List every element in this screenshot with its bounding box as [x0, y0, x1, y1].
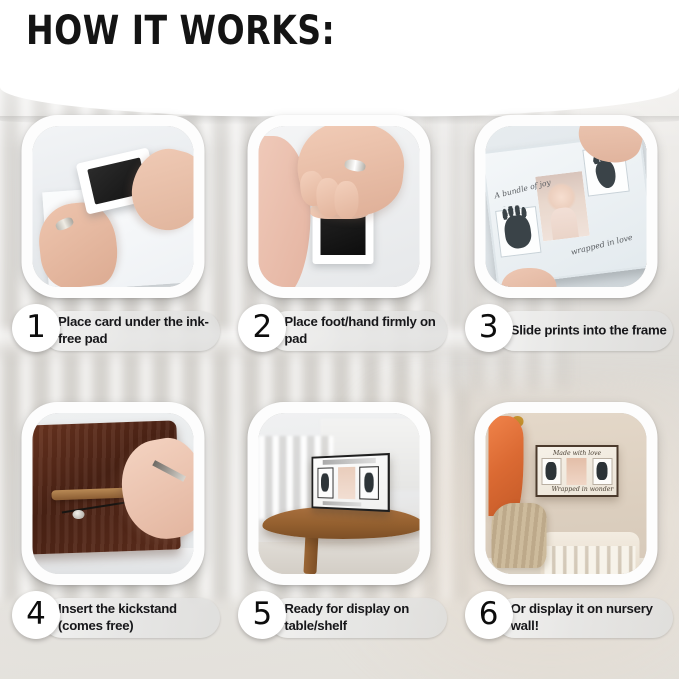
step-2-image-tile: [248, 115, 431, 298]
step-6-label: Or display it on nursery wall!: [511, 601, 669, 635]
step-3-number-badge: 3: [465, 304, 513, 352]
step-5-label: Ready for display on table/shelf: [284, 601, 442, 635]
photo-sliding-prints-into-frame: A bundle of joy wrapped in love: [485, 126, 646, 287]
handprint: [321, 474, 329, 492]
frame-script-bottom: [322, 501, 361, 507]
step-1-number: 1: [26, 312, 46, 343]
step-3-number: 3: [479, 312, 499, 343]
footprint: [364, 473, 373, 493]
screw-icon: [73, 510, 84, 520]
step-4-label: Insert the kickstand (comes free): [58, 601, 216, 635]
footprint: [593, 158, 618, 190]
footprint-slot: [360, 466, 379, 499]
step-5-image-inner: [259, 413, 420, 574]
step-3-caption: 3 Slide prints into the frame: [465, 308, 673, 354]
step-6-number: 6: [479, 599, 499, 630]
step-5: 5 Ready for display on table/shelf: [226, 390, 452, 673]
step-1-caption: 1 Place card under the ink-free pad: [12, 308, 220, 354]
keepsake-frame: [311, 453, 389, 512]
photo-inserting-kickstand-into-frame-back: [33, 413, 194, 574]
baby-photo-slot: [337, 467, 355, 499]
frame-script-bottom: Wrapped in wonder: [552, 486, 603, 493]
steps-grid: 1 Place card under the ink-free pad: [0, 103, 679, 673]
handprint-slot: [495, 206, 541, 258]
photo-hand-pressing-baby-foot-on-pad: [259, 126, 420, 287]
step-2-label: Place foot/hand firmly on pad: [284, 314, 442, 348]
handprint-slot: [317, 467, 333, 498]
step-2: 2 Place foot/hand firmly on pad: [226, 103, 452, 386]
step-6-image-inner: Made with love Wrapped in wonder: [485, 413, 646, 574]
floor: [259, 542, 420, 574]
frame-script-top: Made with love: [552, 450, 603, 457]
step-2-number: 2: [252, 312, 272, 343]
step-2-number-badge: 2: [238, 304, 286, 352]
wooden-table: [262, 506, 420, 538]
step-5-number: 5: [252, 599, 272, 630]
step-5-image-tile: [248, 402, 431, 585]
photo-finished-frame-on-wooden-table: [259, 413, 420, 574]
baby-photo-slot: [567, 458, 587, 486]
orange-curtain: [489, 416, 524, 516]
step-6-number-badge: 6: [465, 591, 513, 639]
knit-blanket: [492, 503, 547, 567]
page-title: HOW IT WORKS:: [26, 8, 335, 54]
step-1-number-badge: 1: [12, 304, 60, 352]
photo-finished-frame-on-nursery-wall: Made with love Wrapped in wonder: [485, 413, 646, 574]
step-2-image-inner: [259, 126, 420, 287]
step-4-number: 4: [26, 599, 46, 630]
step-5-caption: 5 Ready for display on table/shelf: [238, 595, 446, 641]
step-4-number-badge: 4: [12, 591, 60, 639]
step-1: 1 Place card under the ink-free pad: [0, 103, 226, 386]
step-4-image-tile: [22, 402, 205, 585]
footprint-slot: [592, 458, 612, 486]
handprint: [503, 214, 533, 250]
frame-script-top: [322, 458, 375, 465]
step-6-image-tile: Made with love Wrapped in wonder: [474, 402, 657, 585]
step-6: Made with love Wrapped in wonder 6 Or di…: [453, 390, 679, 673]
keepsake-frame: Made with love Wrapped in wonder: [535, 445, 619, 497]
how-it-works-infographic: HOW IT WORKS: 1: [0, 0, 679, 679]
step-3-image-inner: A bundle of joy wrapped in love: [485, 126, 646, 287]
step-4: 4 Insert the kickstand (comes free): [0, 390, 226, 673]
step-2-caption: 2 Place foot/hand firmly on pad: [238, 308, 446, 354]
step-5-number-badge: 5: [238, 591, 286, 639]
step-6-caption: 6 Or display it on nursery wall!: [465, 595, 673, 641]
step-1-image-inner: [33, 126, 194, 287]
handprint: [546, 462, 557, 480]
step-4-caption: 4 Insert the kickstand (comes free): [12, 595, 220, 641]
step-4-image-inner: [33, 413, 194, 574]
step-3-image-tile: A bundle of joy wrapped in love: [474, 115, 657, 298]
crib: [540, 532, 640, 574]
handprint-slot: [541, 458, 561, 486]
step-1-label: Place card under the ink-free pad: [58, 314, 216, 348]
step-3: A bundle of joy wrapped in love 3 Slide …: [453, 103, 679, 386]
step-1-image-tile: [22, 115, 205, 298]
finger: [335, 181, 359, 220]
photo-hand-holding-ink-free-pad-over-card: [33, 126, 194, 287]
step-3-label: Slide prints into the frame: [511, 323, 669, 340]
footprint: [597, 462, 608, 480]
